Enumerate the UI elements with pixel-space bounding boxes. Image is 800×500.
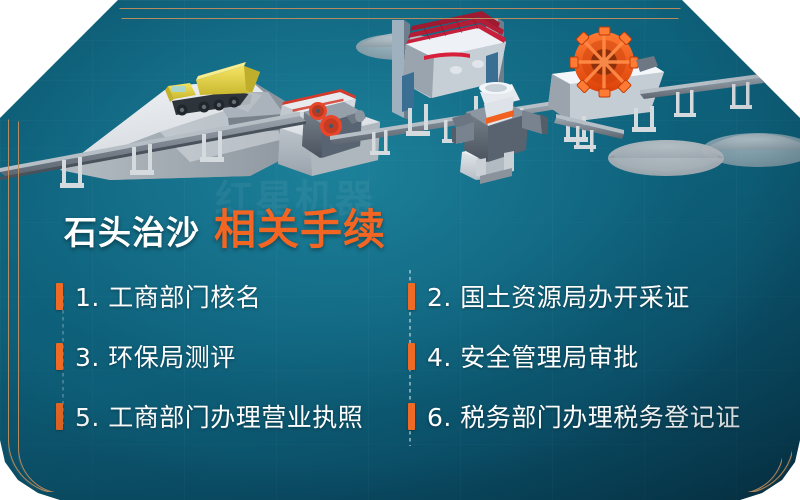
list-item-label: 1. 工商部门核名 — [75, 278, 261, 314]
poster-root: 红星机器 石头治沙 相关手续 1. 工商部门核名 2. 国土资源局办开采证 3.… — [0, 0, 800, 500]
list-item-label: 2. 国土资源局办开采证 — [427, 278, 690, 314]
list-item: 5. 工商部门办理营业执照 — [56, 386, 408, 446]
list-item: 4. 安全管理局审批 — [408, 326, 756, 386]
production-line-illustration — [0, 0, 800, 200]
bullet-marker-icon — [56, 283, 63, 310]
title-highlight: 相关手续 — [214, 196, 386, 257]
stockpile-right — [608, 140, 724, 176]
procedure-list: 1. 工商部门核名 2. 国土资源局办开采证 3. 环保局测评 4. 安全管理局… — [56, 266, 756, 446]
vsi-sand-maker — [452, 82, 548, 184]
title-primary: 石头治沙 — [64, 206, 200, 254]
list-item: 1. 工商部门核名 — [56, 266, 408, 326]
teal-panel: 红星机器 石头治沙 相关手续 1. 工商部门核名 2. 国土资源局办开采证 3.… — [0, 0, 800, 500]
page-title: 石头治沙 相关手续 — [64, 196, 386, 257]
list-item-label: 6. 税务部门办理税务登记证 — [427, 398, 741, 434]
list-item-label: 5. 工商部门办理营业执照 — [75, 398, 363, 434]
list-item: 3. 环保局测评 — [56, 326, 408, 386]
bullet-marker-icon — [56, 403, 63, 430]
list-item: 6. 税务部门办理税务登记证 — [408, 386, 756, 446]
list-item-label: 3. 环保局测评 — [75, 338, 236, 374]
list-item: 2. 国土资源局办开采证 — [408, 266, 756, 326]
bullet-marker-icon — [408, 283, 415, 310]
bucket-wheel — [570, 27, 638, 97]
bullet-marker-icon — [408, 403, 415, 430]
dump-truck — [165, 62, 262, 116]
list-item-label: 4. 安全管理局审批 — [427, 338, 639, 374]
bullet-marker-icon — [408, 343, 415, 370]
belt-conveyor-washer-out — [554, 114, 624, 152]
bullet-marker-icon — [56, 343, 63, 370]
